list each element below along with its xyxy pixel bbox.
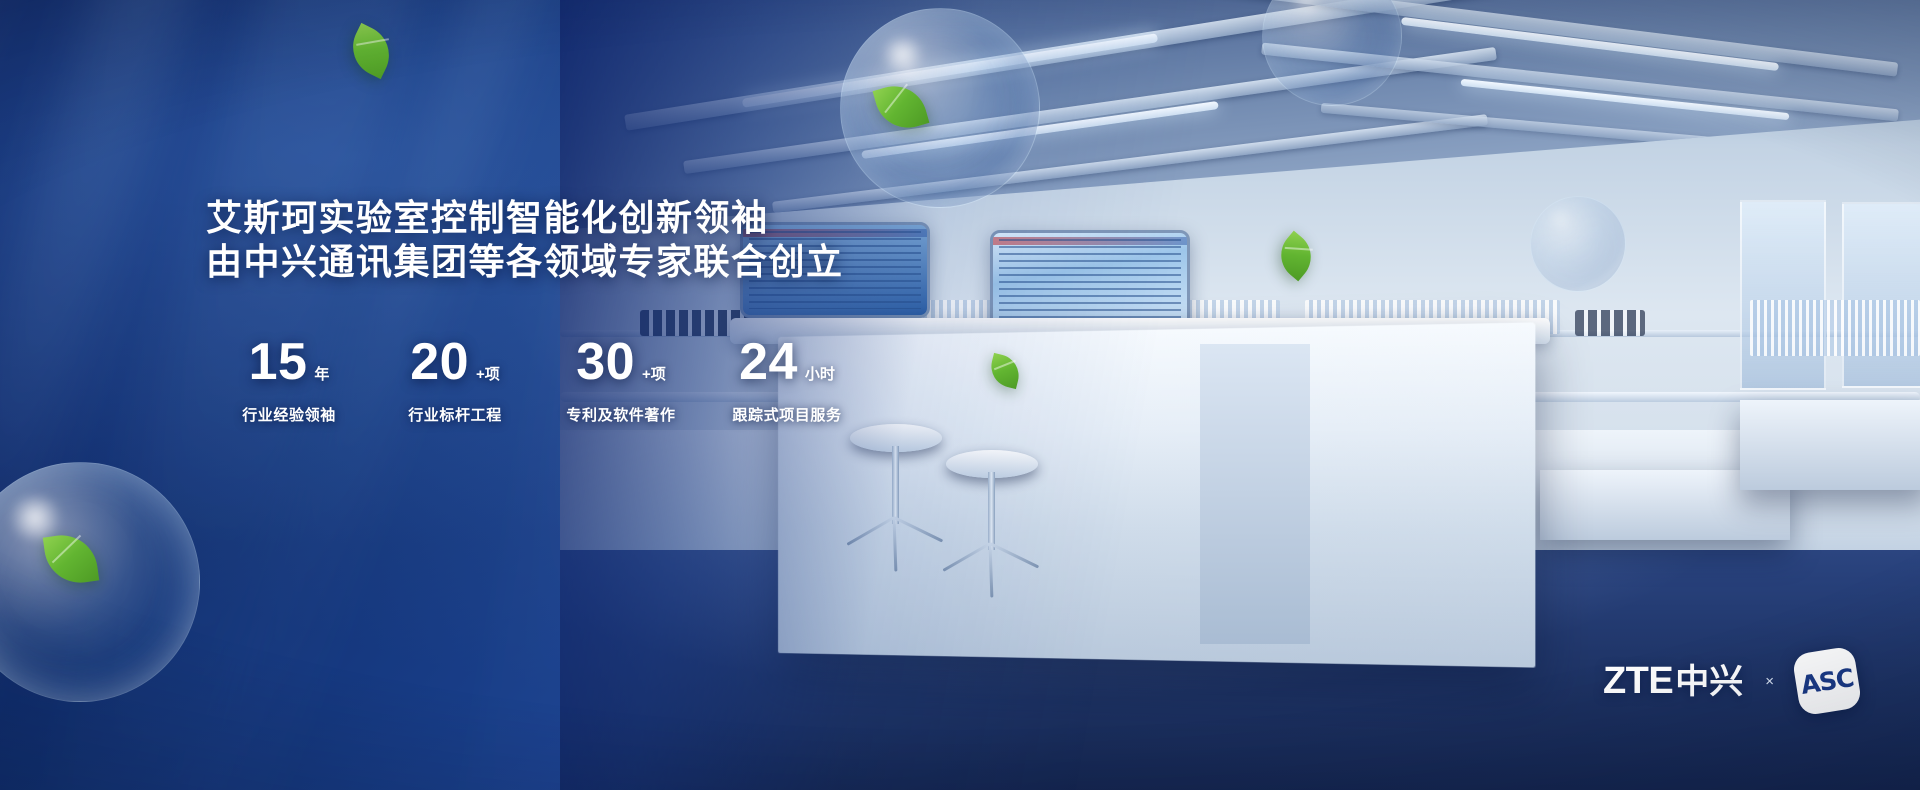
stat-number: 30: [576, 336, 635, 388]
zte-logo: ZTE 中兴: [1603, 662, 1743, 700]
stat-value-row: 20 +项: [372, 336, 538, 388]
stat-label: 跟踪式项目服务: [704, 404, 870, 425]
stat-unit: +项: [476, 363, 500, 384]
stat-label: 行业经验领袖: [206, 404, 372, 425]
headline-block: 艾斯珂实验室控制智能化创新领袖 由中兴通讯集团等各领域专家联合创立: [206, 196, 966, 284]
logo-lockup: ZTE 中兴 × ASC: [1603, 650, 1858, 712]
page-title: 艾斯珂实验室控制智能化创新领袖 由中兴通讯集团等各领域专家联合创立: [206, 196, 966, 284]
zte-chinese-text: 中兴: [1675, 665, 1743, 699]
stat-label: 行业标杆工程: [372, 404, 538, 425]
headline-line-2: 由中兴通讯集团等各领域专家联合创立: [206, 240, 966, 284]
hero-banner: 艾斯珂实验室控制智能化创新领袖 由中兴通讯集团等各领域专家联合创立 15 年 行…: [0, 0, 1920, 790]
bubble: [1530, 196, 1626, 292]
stat-label: 专利及软件著作: [538, 404, 704, 425]
stat-item: 24 小时 跟踪式项目服务: [704, 336, 870, 425]
stat-item: 15 年 行业经验领袖: [206, 336, 372, 425]
stat-value-row: 24 小时: [704, 336, 870, 388]
stat-unit: 小时: [805, 363, 835, 384]
stat-number: 20: [410, 336, 469, 388]
asc-logo-text: ASC: [1799, 663, 1856, 700]
stat-number: 15: [249, 336, 308, 388]
stat-item: 20 +项 行业标杆工程: [372, 336, 538, 425]
zte-latin-text: ZTE: [1603, 662, 1673, 700]
stats-row: 15 年 行业经验领袖 20 +项 行业标杆工程 30 +项 专利及软件著作 2…: [206, 336, 870, 425]
stat-value-row: 30 +项: [538, 336, 704, 388]
stat-unit: 年: [314, 363, 329, 384]
stat-value-row: 15 年: [206, 336, 372, 388]
asc-logo: ASC: [1792, 646, 1863, 717]
stat-item: 30 +项 专利及软件著作: [538, 336, 704, 425]
bubble: [840, 8, 1040, 208]
logo-separator: ×: [1765, 673, 1774, 690]
stat-unit: +项: [642, 363, 666, 384]
stat-number: 24: [739, 336, 798, 388]
headline-line-1: 艾斯珂实验室控制智能化创新领袖: [206, 196, 966, 240]
